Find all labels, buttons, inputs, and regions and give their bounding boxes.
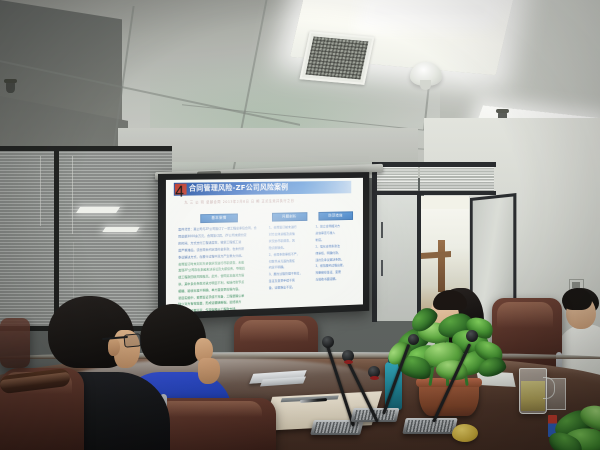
transom-blinds xyxy=(420,167,494,193)
mic-base[interactable] xyxy=(402,418,457,434)
foreground-plant xyxy=(558,404,600,450)
light-reflection xyxy=(76,207,120,213)
vent-grille xyxy=(305,37,368,80)
attendee-woman-hair-top xyxy=(433,290,467,310)
doorway-upper-light xyxy=(421,196,469,209)
mic-head[interactable] xyxy=(322,336,334,348)
partition-mullion xyxy=(54,150,59,332)
sprinkler-icon xyxy=(6,82,15,93)
slide-subtitle: 九 三 公 司 总部合同 2013年2月6日 日 期 正式生效并执行之日 xyxy=(184,197,349,204)
mic-indicator-ring xyxy=(344,360,353,364)
slide-column-1-body: 案件背景：某公司与ZF公司签订了一项工程总承包合同，合 同总额3000余万元，合… xyxy=(178,226,259,313)
chair-highlight xyxy=(240,320,308,342)
ceiling-light-glow xyxy=(355,0,505,30)
doorway-furniture xyxy=(438,240,445,292)
tea-mug[interactable] xyxy=(519,368,547,414)
slide-title-bar: 4 合同管理风险-ZF公司风险案例 xyxy=(174,180,351,195)
mic-head[interactable] xyxy=(466,330,478,342)
chair-highlight xyxy=(497,302,553,328)
mic-indicator-ring-2 xyxy=(370,376,379,380)
door-handle-icon-2[interactable] xyxy=(381,260,383,276)
glasses-lens xyxy=(123,333,141,347)
door-panel-frosted[interactable] xyxy=(377,195,417,321)
attendee-far-right-hair-front xyxy=(562,288,592,310)
door-handle-icon[interactable] xyxy=(381,222,383,238)
projector-screen: 4 合同管理风险-ZF公司风险案例 九 三 公 司 总部合同 2013年2月6日… xyxy=(158,172,369,320)
attendee-mid-hand xyxy=(198,358,220,384)
projector-screen-surface: 4 合同管理风险-ZF公司风险案例 九 三 公 司 总部合同 2013年2月6日… xyxy=(166,178,363,313)
slide-column-2-header: 问题剖析 xyxy=(272,212,307,222)
chair-highlight xyxy=(158,401,262,417)
small-yellow-object[interactable] xyxy=(452,424,478,442)
ceiling-speaker-dome-icon xyxy=(410,62,442,86)
slide-title-badge: 4 xyxy=(175,183,187,195)
blind-cord[interactable] xyxy=(40,156,41,226)
hvac-vent-icon xyxy=(300,31,375,85)
slide-column-3-body: 1、建立合同相对方 资信审查与准入 制度。 2、强化合同条款法 律审核，明确付款… xyxy=(315,224,355,282)
mic-base-grille xyxy=(406,420,455,432)
meeting-room-photo: 4 合同管理风险-ZF公司风险案例 九 三 公 司 总部合同 2013年2月6日… xyxy=(0,0,600,450)
partition-frame xyxy=(0,146,172,151)
slide-title: 合同管理风险-ZF公司风险案例 xyxy=(189,181,350,196)
mic-base[interactable] xyxy=(310,420,364,435)
blind-cord[interactable] xyxy=(72,156,73,234)
slide-column-1-header: 基本案情 xyxy=(200,213,237,223)
slide-column-1: 基本案情 案件背景：某公司与ZF公司签订了一项工程总承包合同，合 同总额3000… xyxy=(178,213,259,313)
light-reflection xyxy=(102,227,139,232)
slide-column-3-header: 防范措施 xyxy=(318,211,353,221)
tea-liquid xyxy=(521,381,545,411)
slide-column-3: 防范措施 1、建立合同相对方 资信审查与准入 制度。 2、强化合同条款法 律审核… xyxy=(315,211,355,284)
door-transom-glass-2 xyxy=(420,167,494,193)
slide-column-2-body: 1、合同签订前未进行 对方主体资格及资信 状况的尽职调查，风 险识别缺失。 2、… xyxy=(269,225,310,290)
presentation-slide: 4 合同管理风险-ZF公司风险案例 九 三 公 司 总部合同 2013年2月6日… xyxy=(166,178,363,313)
chair-left-rear[interactable] xyxy=(0,318,30,368)
slide-column-2: 问题剖析 1、合同签订前未进行 对方主体资格及资信 状况的尽职调查，风 险识别缺… xyxy=(269,212,310,293)
attendee-left-ear xyxy=(108,338,120,356)
mic-head[interactable] xyxy=(408,334,419,345)
